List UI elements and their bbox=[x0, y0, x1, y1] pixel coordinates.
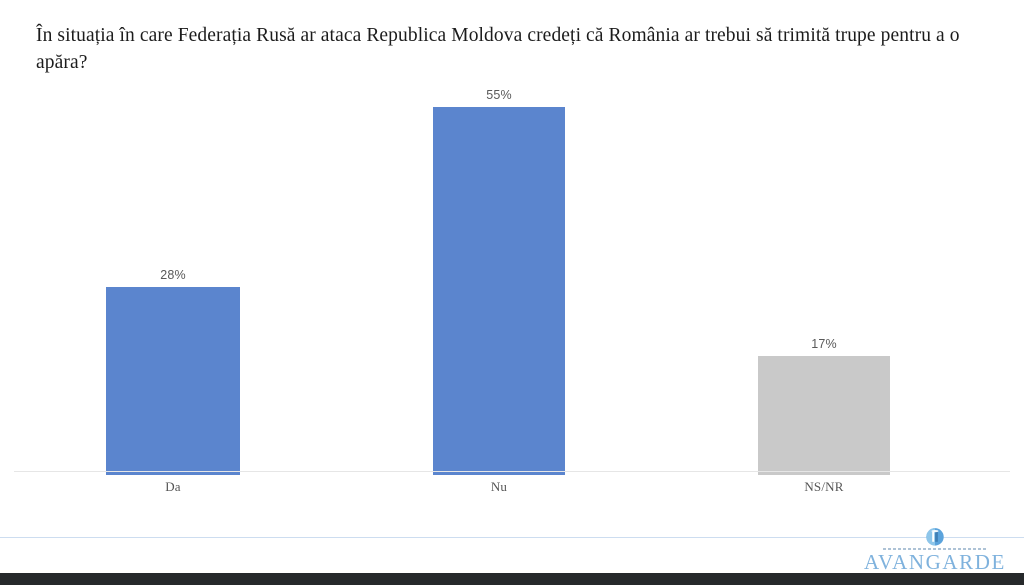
axis-label-da: Da bbox=[106, 479, 240, 495]
brand-name: AVANGARDE bbox=[864, 551, 1006, 573]
bar-value-label: 17% bbox=[811, 337, 837, 351]
bar-column[interactable]: 17% bbox=[758, 75, 890, 475]
bottom-strip bbox=[0, 573, 1024, 585]
category-axis-line bbox=[14, 471, 1010, 472]
slide-canvas: În situația în care Federația Rusă ar at… bbox=[0, 0, 1024, 585]
bar-rect[interactable] bbox=[433, 107, 565, 475]
bar-column[interactable]: 28% bbox=[106, 75, 240, 475]
bar-rect[interactable] bbox=[106, 287, 240, 475]
chart-plot-area: 28% 55% 17% bbox=[0, 75, 1024, 475]
bar-value-label: 28% bbox=[160, 268, 186, 282]
avangarde-circle-logo-icon bbox=[922, 527, 948, 547]
brand-tagline: CENTRUL DE STUDII SOCIO-COMPORTAMENTALE bbox=[883, 548, 987, 550]
bar-group-nsnr: 17% bbox=[758, 75, 890, 475]
page-title: În situația în care Federația Rusă ar at… bbox=[36, 22, 986, 76]
bar-group-da: 28% bbox=[106, 75, 240, 475]
bar-value-label: 55% bbox=[486, 88, 512, 102]
bar-rect[interactable] bbox=[758, 356, 890, 475]
bar-group-nu: 55% bbox=[433, 75, 565, 475]
axis-label-nsnr: NS/NR bbox=[758, 479, 890, 495]
axis-label-nu: Nu bbox=[433, 479, 565, 495]
brand-logo: CENTRUL DE STUDII SOCIO-COMPORTAMENTALE … bbox=[860, 527, 1010, 573]
bar-column[interactable]: 55% bbox=[433, 75, 565, 475]
